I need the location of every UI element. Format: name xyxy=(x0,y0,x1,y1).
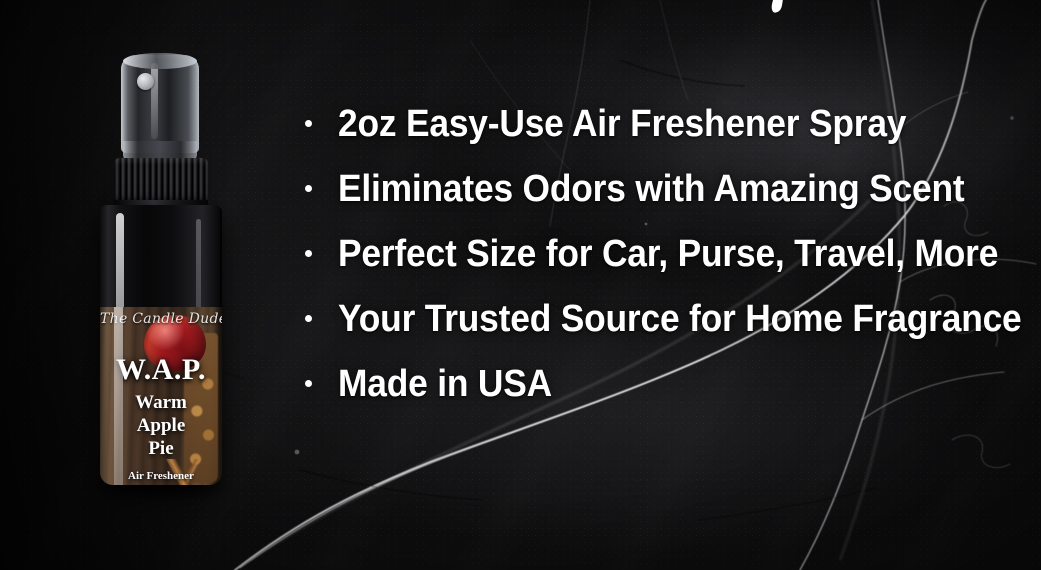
feature-bullet-item: 2oz Easy-Use Air Freshener Spray xyxy=(296,104,1006,169)
product-bottle: The Candle Dudes W.A.P. Warm Apple Pie A… xyxy=(99,55,223,487)
feature-bullet-item: Your Trusted Source for Home Fragrance xyxy=(296,299,1006,364)
bullet-dot-icon xyxy=(305,315,312,322)
bullet-dot-icon xyxy=(305,250,312,257)
feature-bullet-item: Eliminates Odors with Amazing Scent xyxy=(296,169,1006,234)
overcap-highlight xyxy=(151,63,158,139)
sprayer-overcap xyxy=(121,55,199,153)
feature-bullet-item: Made in USA xyxy=(296,364,1006,429)
feature-bullet-text: Made in USA xyxy=(338,364,552,404)
feature-bullet-list: 2oz Easy-Use Air Freshener Spray Elimina… xyxy=(296,104,1006,429)
feature-bullet-text: Eliminates Odors with Amazing Scent xyxy=(338,169,964,209)
label-highlight xyxy=(114,307,123,485)
feature-bullet-item: Perfect Size for Car, Purse, Travel, Mor… xyxy=(296,234,1006,299)
product-feature-slide: The Candle Dudes W.A.P. Warm Apple Pie A… xyxy=(0,0,1041,570)
bottle-body: The Candle Dudes W.A.P. Warm Apple Pie A… xyxy=(100,205,222,485)
spray-nozzle-button xyxy=(137,73,154,90)
overcap-top-rim xyxy=(123,53,197,69)
bullet-dot-icon xyxy=(305,185,312,192)
bullet-dot-icon xyxy=(305,380,312,387)
ribbed-collar xyxy=(114,158,208,204)
bullet-dot-icon xyxy=(305,120,312,127)
feature-bullet-text: Your Trusted Source for Home Fragrance xyxy=(338,299,1022,339)
feature-bullet-text: Perfect Size for Car, Purse, Travel, Mor… xyxy=(338,234,998,274)
product-label: The Candle Dudes W.A.P. Warm Apple Pie A… xyxy=(100,307,222,485)
feature-bullet-text: 2oz Easy-Use Air Freshener Spray xyxy=(338,104,906,144)
